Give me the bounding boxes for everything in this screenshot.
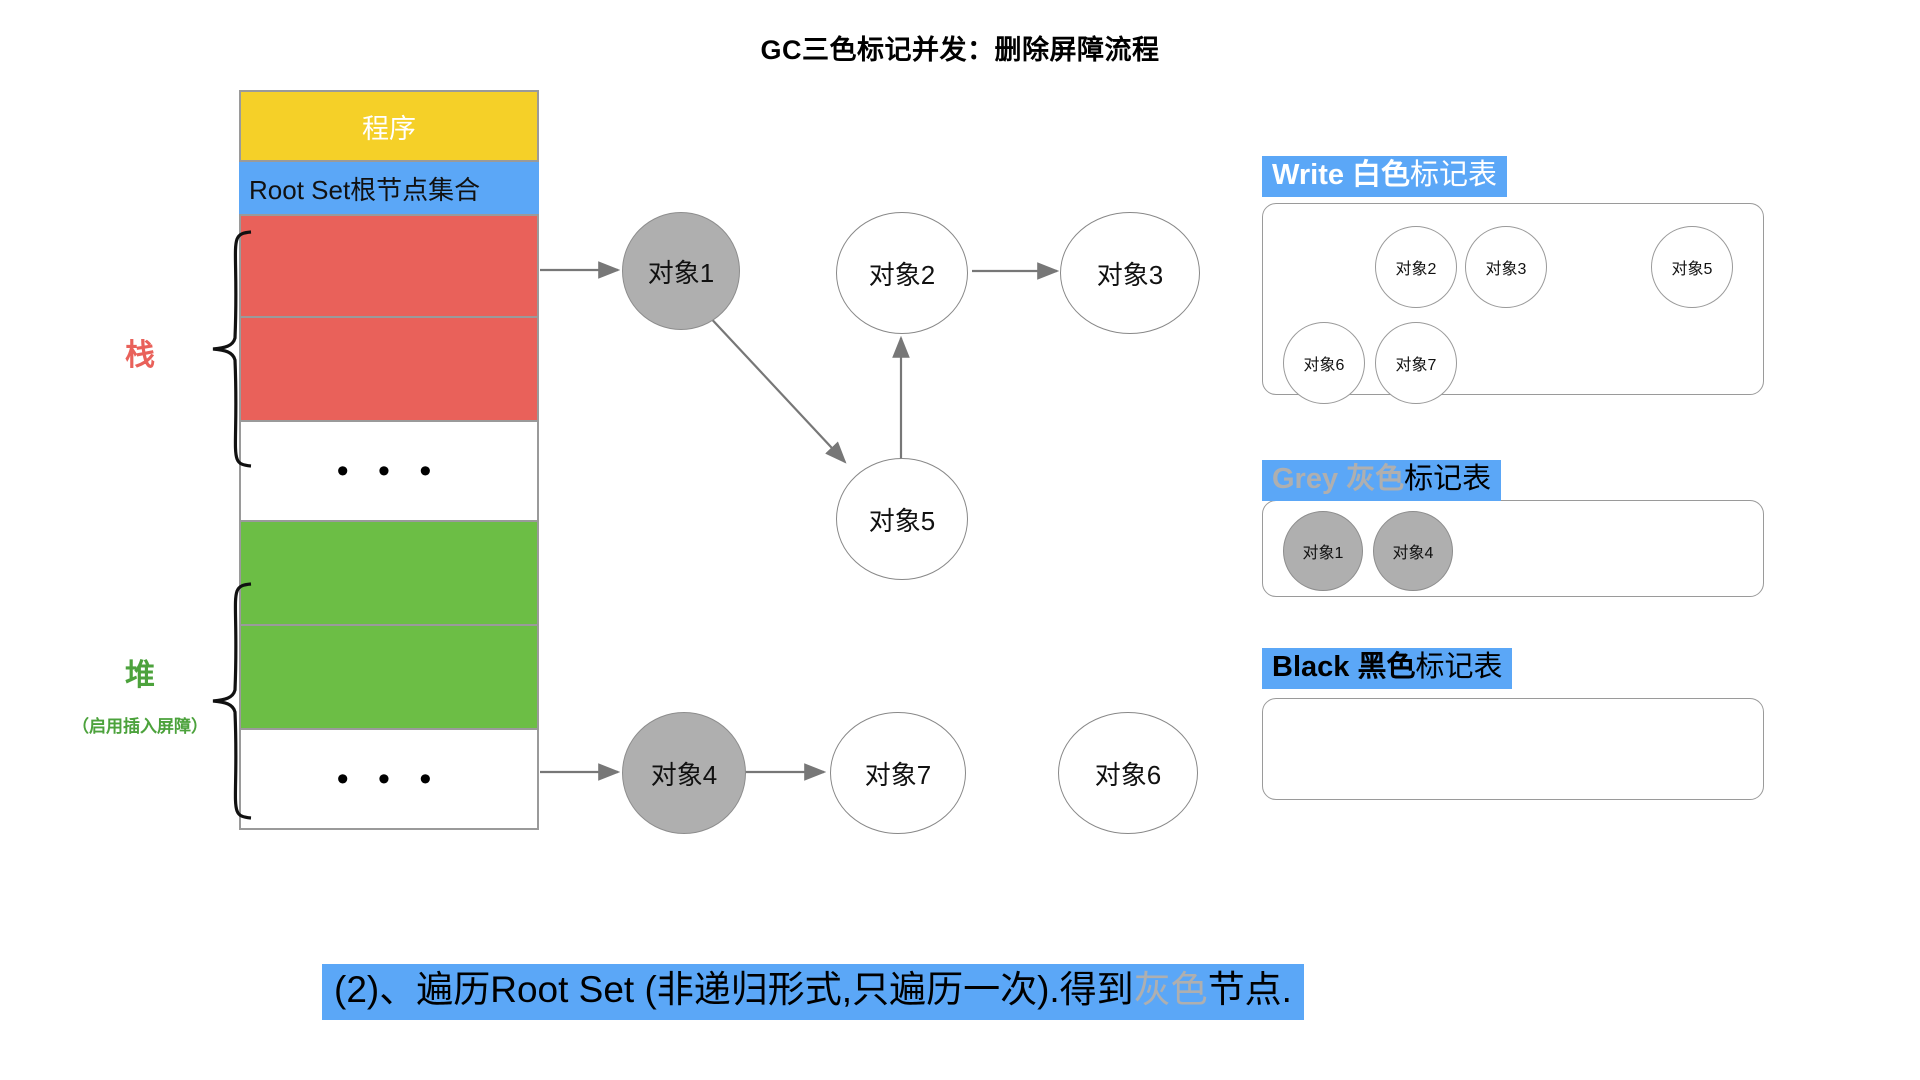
grey-table-title-strong: Grey 灰色 [1272, 463, 1404, 495]
graph-node-obj6[interactable]: 对象6 [1058, 712, 1198, 834]
node-label: 对象3 [1097, 255, 1163, 292]
graph-node-obj5[interactable]: 对象5 [836, 458, 968, 580]
node-label: 对象1 [648, 253, 714, 290]
black-table-title-strong: Black 黑色 [1272, 651, 1415, 683]
chip-label: 对象5 [1672, 255, 1713, 279]
white-table-title-rest: 标记表 [1410, 159, 1497, 191]
white-table-chip-obj7[interactable]: 对象7 [1375, 322, 1457, 404]
grey-mark-table-box: 对象1 对象4 [1262, 500, 1764, 597]
white-mark-table-header: Write 白色标记表 [1262, 156, 1507, 197]
grey-table-title-rest: 标记表 [1404, 463, 1491, 495]
white-table-chip-obj2[interactable]: 对象2 [1375, 226, 1457, 308]
chip-label: 对象6 [1304, 351, 1345, 375]
grey-table-chip-obj4[interactable]: 对象4 [1373, 511, 1453, 591]
graph-node-obj3[interactable]: 对象3 [1060, 212, 1200, 334]
step-caption: (2)、遍历Root Set (非递归形式,只遍历一次).得到灰色节点. [322, 964, 1304, 1020]
chip-label: 对象2 [1396, 255, 1437, 279]
graph-node-obj4[interactable]: 对象4 [622, 712, 746, 834]
grey-mark-table-header: Grey 灰色标记表 [1262, 460, 1501, 501]
graph-node-obj2[interactable]: 对象2 [836, 212, 968, 334]
node-label: 对象7 [865, 755, 931, 792]
caption-part1: (2)、遍历Root Set (非递归形式,只遍历一次).得到 [334, 969, 1134, 1010]
chip-label: 对象1 [1303, 539, 1344, 563]
node-label: 对象2 [869, 255, 935, 292]
white-table-title-strong: Write 白色 [1272, 159, 1410, 191]
white-table-chip-obj5[interactable]: 对象5 [1651, 226, 1733, 308]
caption-part2: 节点. [1208, 969, 1292, 1010]
node-label: 对象4 [651, 755, 717, 792]
chip-label: 对象7 [1396, 351, 1437, 375]
graph-node-obj1[interactable]: 对象1 [622, 212, 740, 330]
black-mark-table-header: Black 黑色标记表 [1262, 648, 1512, 689]
chip-label: 对象4 [1393, 539, 1434, 563]
white-table-chip-obj6[interactable]: 对象6 [1283, 322, 1365, 404]
chip-label: 对象3 [1486, 255, 1527, 279]
black-mark-table-box [1262, 698, 1764, 800]
graph-node-obj7[interactable]: 对象7 [830, 712, 966, 834]
white-mark-table-box: 对象2 对象3 对象5 对象6 对象7 [1262, 203, 1764, 395]
black-table-title-rest: 标记表 [1415, 651, 1502, 683]
grey-table-chip-obj1[interactable]: 对象1 [1283, 511, 1363, 591]
node-label: 对象6 [1095, 755, 1161, 792]
caption-highlight: 灰色 [1134, 969, 1208, 1010]
white-table-chip-obj3[interactable]: 对象3 [1465, 226, 1547, 308]
node-label: 对象5 [869, 501, 935, 538]
